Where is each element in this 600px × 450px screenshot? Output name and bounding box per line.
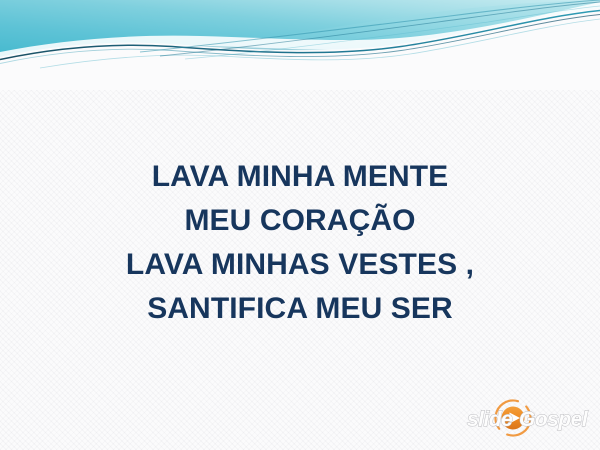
lyric-line-2: MEU CORAÇÃO: [0, 199, 600, 243]
logo-text-gospel: Gospel: [519, 408, 589, 431]
lyric-line-1: LAVA MINHA MENTE: [0, 155, 600, 199]
logo-text-slide: slide: [467, 408, 513, 431]
header-wave-decoration: [0, 0, 600, 90]
logo-svg: slide Gospel: [466, 398, 590, 440]
lyric-line-4: SANTIFICA MEU SER: [0, 287, 600, 331]
lyrics-text-block: LAVA MINHA MENTE MEU CORAÇÃO LAVA MINHAS…: [0, 155, 600, 331]
teal-wave-svg: [0, 0, 600, 90]
lyric-line-3: LAVA MINHAS VESTES ,: [0, 243, 600, 287]
slide-gospel-logo: slide Gospel: [466, 398, 590, 440]
presentation-slide: LAVA MINHA MENTE MEU CORAÇÃO LAVA MINHAS…: [0, 0, 600, 450]
